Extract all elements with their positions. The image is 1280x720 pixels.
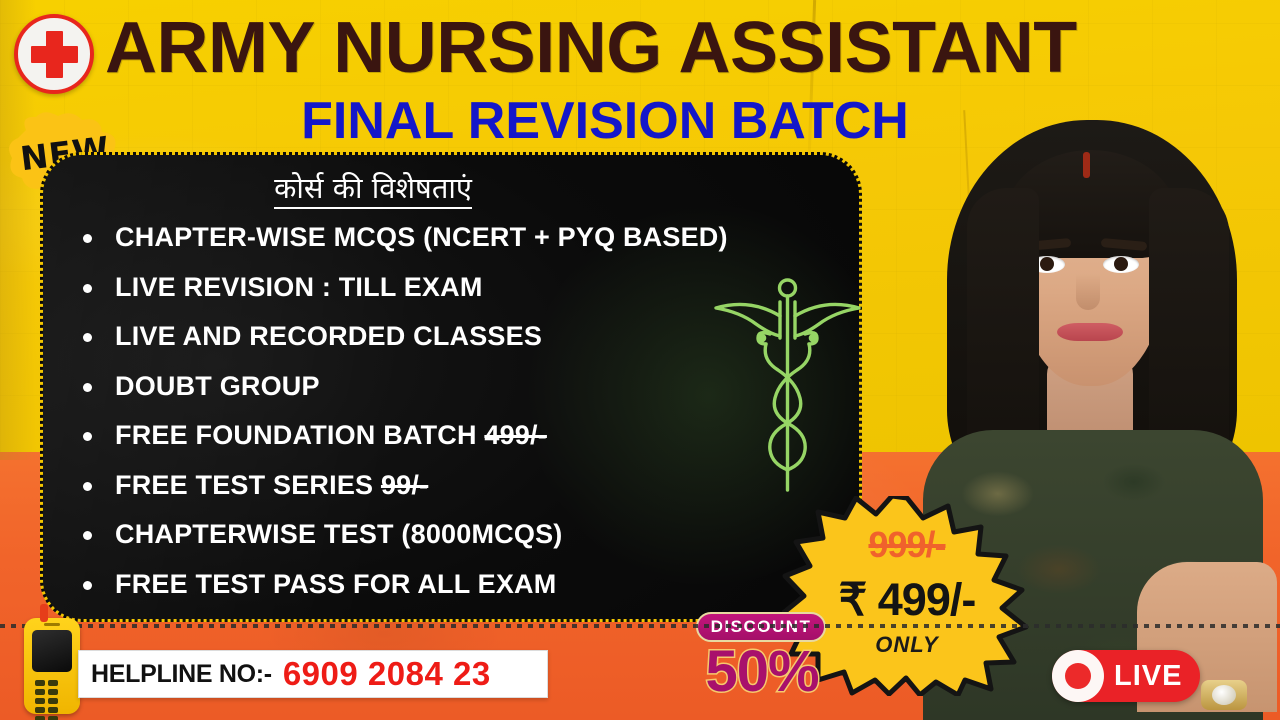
mobile-phone-icon [24,618,80,714]
list-item: CHAPTERWISE TEST (8000MCQS) [65,510,855,560]
presenter-pupil-right [1114,257,1128,271]
phone-screen [32,630,72,672]
presenter-nose [1076,274,1100,310]
presenter-sindoor [1083,152,1090,178]
phone-antenna [40,604,48,622]
phone-speaker [44,623,60,626]
discount-value: 50% [682,638,842,705]
bullet-dot-icon [83,234,92,243]
list-item-strike: 499/- [484,420,547,450]
orange-strip-dotted-edge [0,624,1280,628]
list-item-text: CHAPTER-WISE MCQS (NCERT + PYQ BASED) [115,222,728,252]
list-item: CHAPTER-WISE MCQS (NCERT + PYQ BASED) [65,213,855,263]
presenter-pupil-left [1040,257,1054,271]
list-item-text: LIVE REVISION : TILL EXAM [115,272,483,302]
record-dot-icon [1052,650,1104,702]
cross-horizontal-bar [31,46,78,63]
red-cross-icon [14,14,94,94]
helpline-label: HELPLINE NO:- [91,660,272,689]
list-item-text: FREE TEST SERIES [115,470,381,500]
features-heading: कोर्स की विशेषताएं [43,169,703,207]
bullet-dot-icon [83,432,92,441]
list-item-text: FREE FOUNDATION BATCH [115,420,484,450]
list-item-strike: 99/- [381,470,428,500]
bullet-dot-icon [83,482,92,491]
bullet-dot-icon [83,531,92,540]
caduceus-icon [700,272,875,497]
live-badge[interactable]: LIVE [1052,650,1200,702]
bullet-dot-icon [83,284,92,293]
price-old: 999/- [782,524,1032,566]
list-item: FREE TEST PASS FOR ALL EXAM [65,560,855,610]
discount-badge: DISCOUNT 50% [682,612,842,720]
page-title: ARMY NURSING ASSISTANT [105,8,1225,88]
helpline-bar: HELPLINE NO:- 6909 2084 23 [78,650,548,698]
caduceus-shape [700,272,875,497]
list-item-text: LIVE AND RECORDED CLASSES [115,321,542,351]
bullet-dot-icon [83,581,92,590]
helpline-number[interactable]: 6909 2084 23 [283,655,491,693]
presenter-lips [1057,323,1123,341]
live-badge-label: LIVE [1114,660,1182,693]
phone-keypad [33,678,71,708]
features-heading-text: कोर्स की विशेषताएं [274,171,472,209]
bullet-dot-icon [83,333,92,342]
presenter-wristwatch [1201,680,1247,710]
promotional-poster: ARMY NURSING ASSISTANT FINAL REVISION BA… [0,0,1280,720]
list-item-text: DOUBT GROUP [115,371,320,401]
list-item-text: FREE TEST PASS FOR ALL EXAM [115,569,556,599]
list-item-text: CHAPTERWISE TEST (8000MCQS) [115,519,562,549]
record-dot-inner [1065,663,1091,689]
bullet-dot-icon [83,383,92,392]
